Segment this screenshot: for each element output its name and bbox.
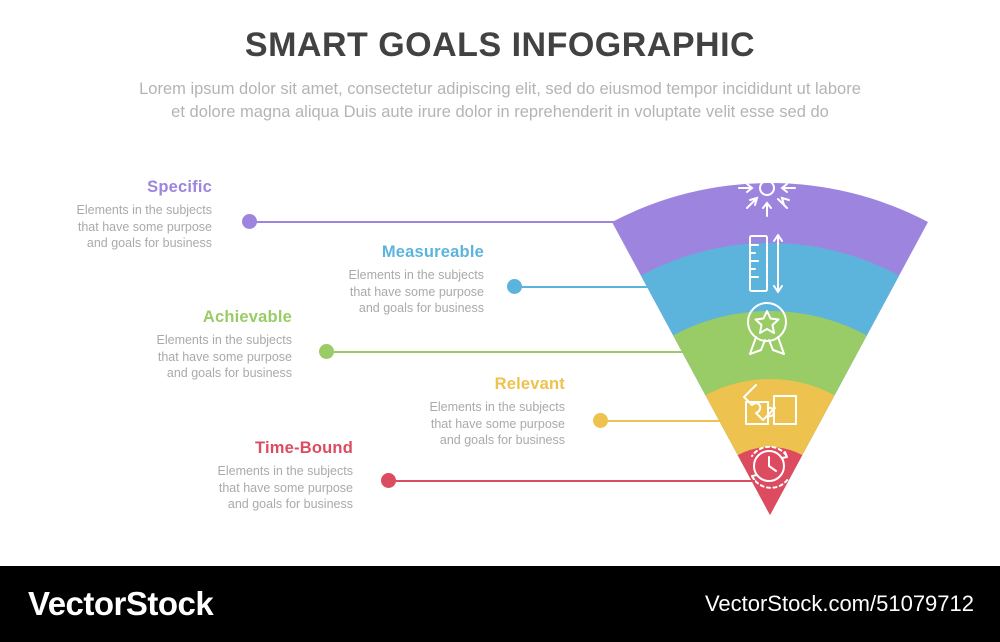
desc-line-1: Elements in the subjects [297,267,484,284]
item-label-relevant: Relevant [378,375,565,394]
desc-line-1: Elements in the subjects [25,202,212,219]
connector-dot-measureable[interactable] [507,279,522,294]
item-label-time-bound: Time-Bound [166,439,353,458]
desc-line-3: and goals for business [297,300,484,317]
item-description-time-bound: Elements in the subjects that have some … [166,463,353,513]
connector-dot-achievable[interactable] [319,344,334,359]
item-specific[interactable]: Specific Elements in the subjects that h… [25,178,212,252]
connector-dot-relevant[interactable] [593,413,608,428]
connector-dot-specific[interactable] [242,214,257,229]
desc-line-2: that have some purpose [378,416,565,433]
desc-line-3: and goals for business [105,365,292,382]
desc-line-2: that have some purpose [105,349,292,366]
item-relevant[interactable]: Relevant Elements in the subjects that h… [378,375,565,449]
item-label-measureable: Measureable [297,243,484,262]
desc-line-2: that have some purpose [297,284,484,301]
item-description-measureable: Elements in the subjects that have some … [297,267,484,317]
desc-line-2: that have some purpose [166,480,353,497]
item-description-relevant: Elements in the subjects that have some … [378,399,565,449]
desc-line-1: Elements in the subjects [166,463,353,480]
item-time-bound[interactable]: Time-Bound Elements in the subjects that… [166,439,353,513]
footer-bar: VectorStock VectorStock.com/51079712 [0,566,1000,642]
item-achievable[interactable]: Achievable Elements in the subjects that… [105,308,292,382]
item-measureable[interactable]: Measureable Elements in the subjects tha… [297,243,484,317]
item-label-specific: Specific [25,178,212,197]
connector-line-time-bound [389,480,755,482]
desc-line-3: and goals for business [378,432,565,449]
connector-line-specific [250,221,650,223]
item-description-achievable: Elements in the subjects that have some … [105,332,292,382]
connector-line-measureable [515,286,675,288]
item-description-specific: Elements in the subjects that have some … [25,202,212,252]
desc-line-1: Elements in the subjects [105,332,292,349]
desc-line-1: Elements in the subjects [378,399,565,416]
connector-line-relevant [601,420,731,422]
connector-dot-time-bound[interactable] [381,473,396,488]
footer-url: VectorStock.com/51079712 [705,591,974,617]
desc-line-3: and goals for business [25,235,212,252]
brand-logo: VectorStock [28,585,213,623]
connector-line-achievable [327,351,702,353]
item-label-achievable: Achievable [105,308,292,327]
infographic-canvas: SMART GOALS INFOGRAPHIC Lorem ipsum dolo… [0,0,1000,642]
desc-line-3: and goals for business [166,496,353,513]
smart-funnel-cone [0,0,1000,560]
desc-line-2: that have some purpose [25,219,212,236]
